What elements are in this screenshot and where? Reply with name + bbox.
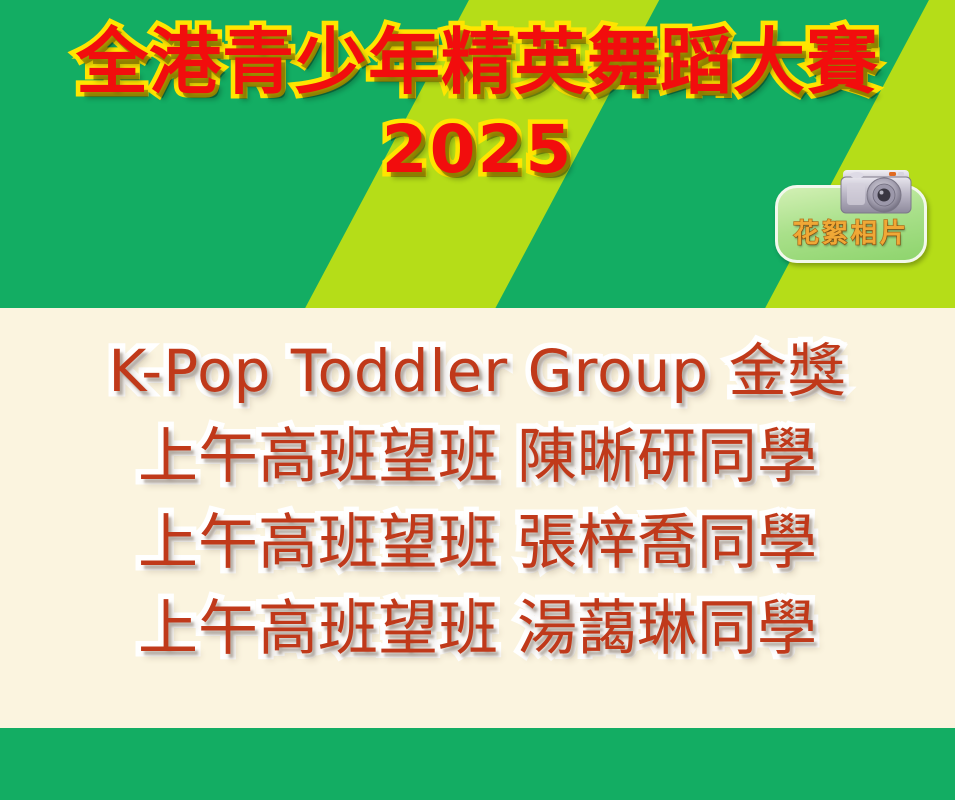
poster-page: 全港青少年精英舞蹈大賽 2025 <box>0 0 955 800</box>
award-winner-line: 上午高班望班 張梓喬同學 <box>0 500 955 586</box>
photo-gallery-badge[interactable]: 花絮相片 <box>775 185 927 263</box>
award-list: K-Pop Toddler Group 金獎 上午高班望班 陳晰研同學 上午高班… <box>0 308 955 672</box>
header-banner: 全港青少年精英舞蹈大賽 2025 <box>0 0 955 308</box>
footer-band <box>0 728 955 800</box>
award-category-line: K-Pop Toddler Group 金獎 <box>0 328 955 414</box>
event-title-block: 全港青少年精英舞蹈大賽 2025 <box>0 0 955 190</box>
camera-icon <box>837 163 915 219</box>
award-winner-line: 上午高班望班 湯藹琳同學 <box>0 586 955 672</box>
award-winner-line: 上午高班望班 陳晰研同學 <box>0 414 955 500</box>
award-content-area: K-Pop Toddler Group 金獎 上午高班望班 陳晰研同學 上午高班… <box>0 308 955 728</box>
event-title-year: 2025 <box>0 110 955 190</box>
event-title-chinese: 全港青少年精英舞蹈大賽 <box>0 14 955 110</box>
